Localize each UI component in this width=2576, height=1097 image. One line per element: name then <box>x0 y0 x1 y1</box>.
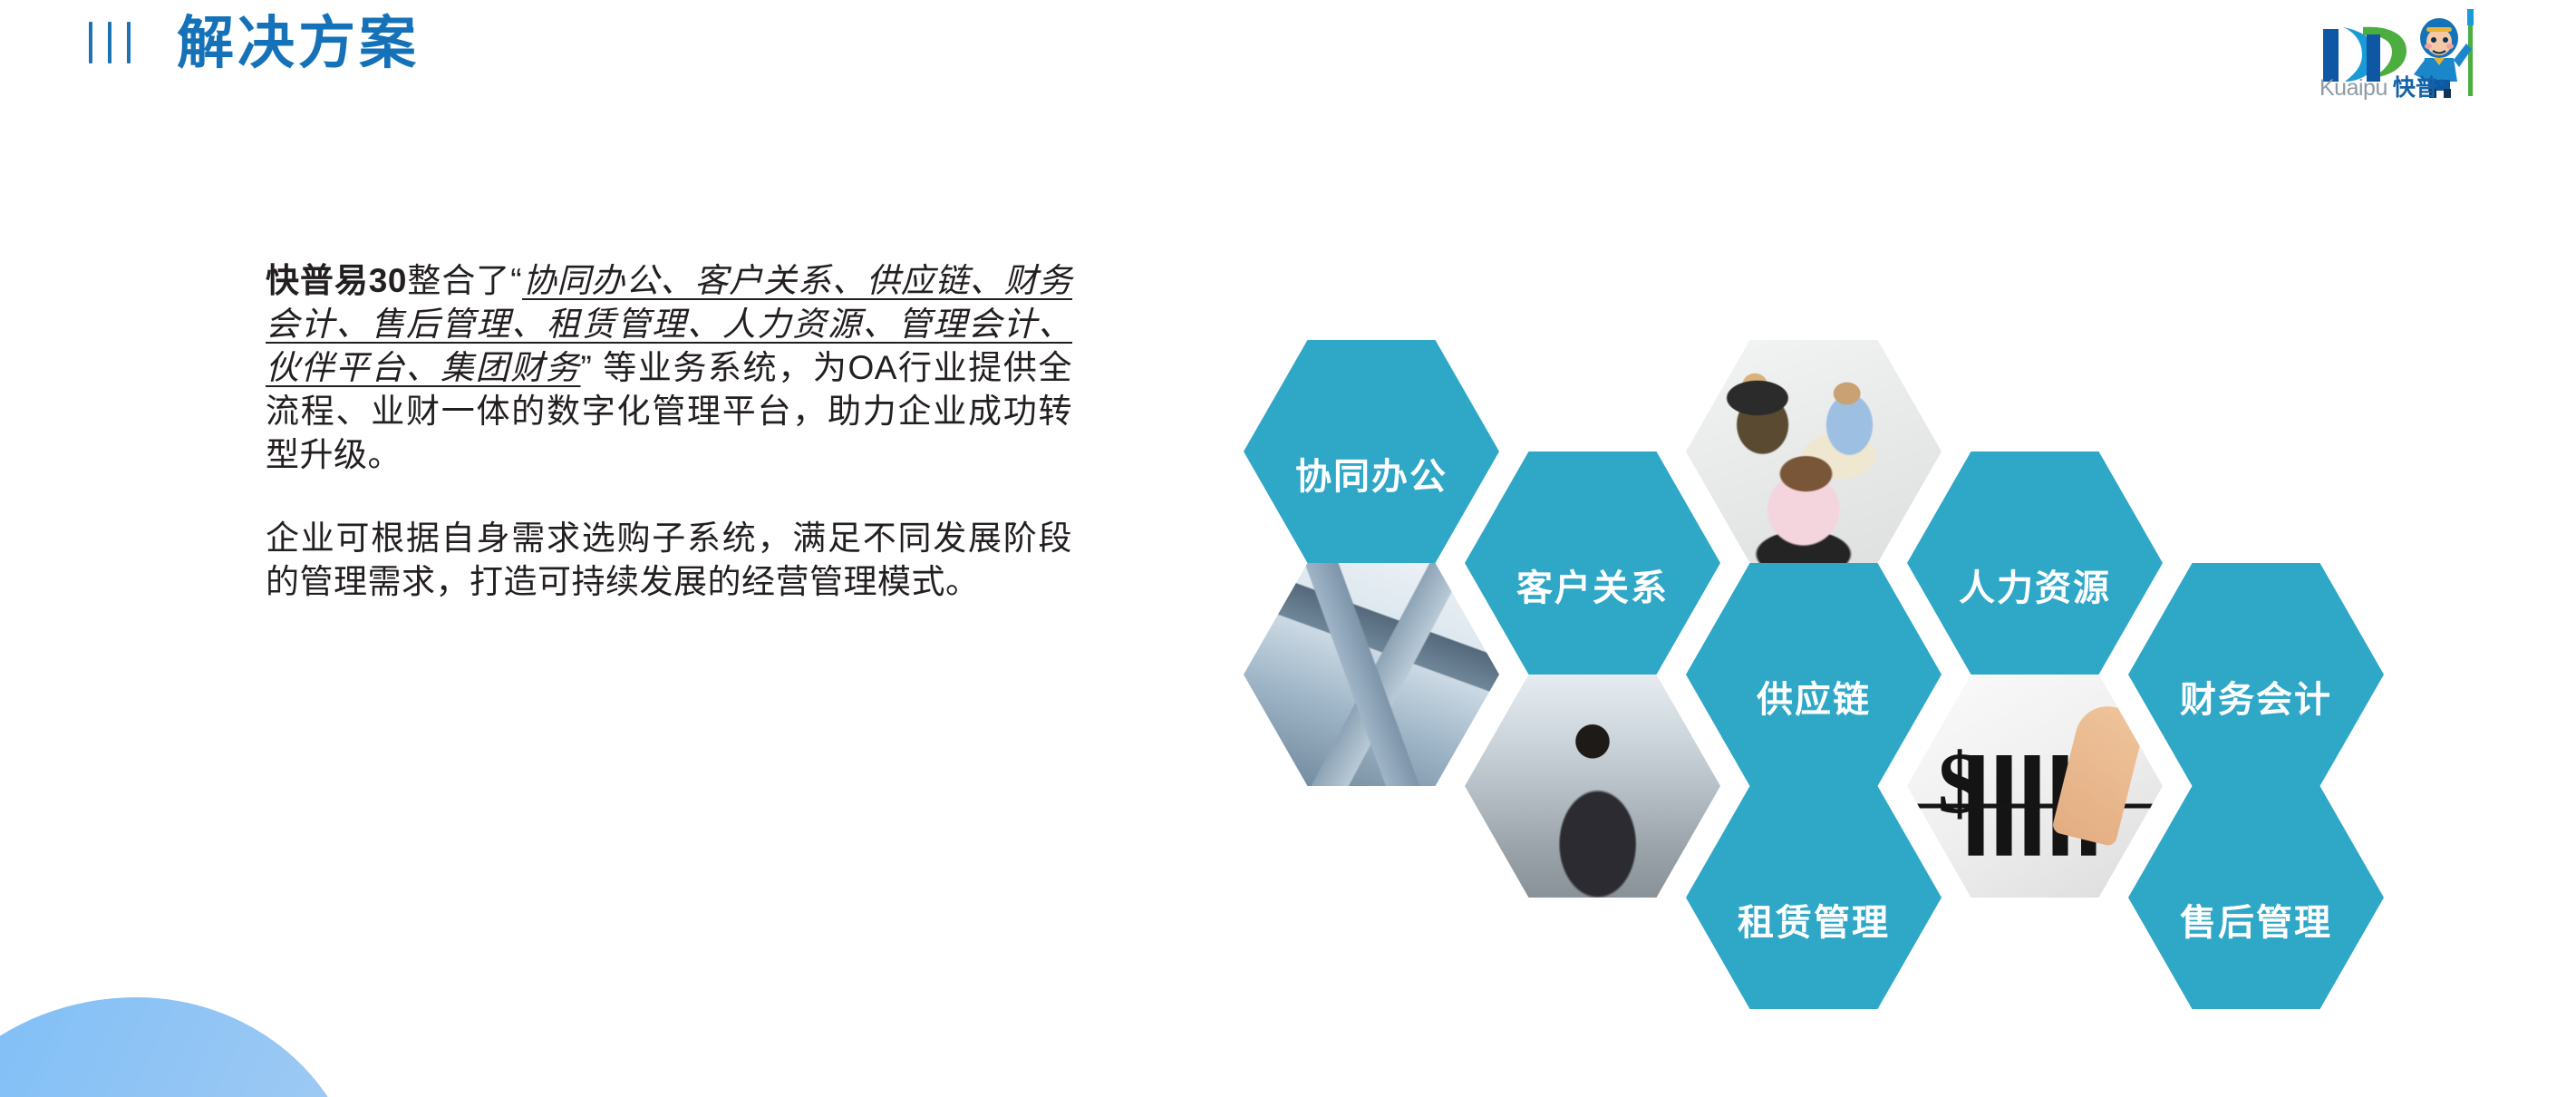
slide-canvas: 解决方案 <box>0 0 2576 1097</box>
hex-cell-growth-chart-photo <box>1907 675 2163 898</box>
hex-label: 协同办公 <box>1295 459 1448 495</box>
hex-label: 售后管理 <box>2180 905 2332 941</box>
hex-cell-meeting-photo <box>1686 340 1942 563</box>
logo-wordmark: Kuaipu快普® <box>2319 77 2445 100</box>
hex-cell-skyscrapers-photo <box>1244 563 1499 786</box>
logo-text-en: Kuaipu <box>2319 75 2387 101</box>
hex-label: 租赁管理 <box>1738 905 1890 941</box>
quote-open: “ <box>510 262 522 299</box>
logo-text-cn: 快普 <box>2393 75 2438 101</box>
product-name: 快普易30 <box>266 262 407 299</box>
hex-cell-财务会计[interactable]: 财务会计 <box>2128 563 2384 786</box>
growth-chart-photo <box>1907 675 2163 898</box>
hex-cell-供应链[interactable]: 供应链 <box>1686 563 1942 786</box>
hex-cell-协同办公[interactable]: 协同办公 <box>1244 340 1499 563</box>
hex-label: 财务会计 <box>2180 682 2332 718</box>
hex-cell-售后管理[interactable]: 售后管理 <box>2128 786 2384 1009</box>
page-title: 解决方案 <box>177 11 420 76</box>
body-copy: 快普易30整合了“协同办公、客户关系、供应链、财务会计、售后管理、租赁管理、人力… <box>266 259 1072 604</box>
hex-cell-businessman-city-photo <box>1465 675 1720 898</box>
honeycomb-diagram: 协同办公客户关系供应链租赁管理人力资源财务会计售后管理 <box>1224 299 2511 1097</box>
blue-gradient-blob <box>0 997 363 1097</box>
hex-label: 客户关系 <box>1516 570 1669 607</box>
paragraph-2: 企业可根据自身需求选购子系统，满足不同发展阶段的管理需求，打造可持续发展的经营管… <box>266 517 1072 604</box>
skyscrapers-photo <box>1244 563 1499 786</box>
paragraph-1: 快普易30整合了“协同办公、客户关系、供应链、财务会计、售后管理、租赁管理、人力… <box>266 259 1072 477</box>
three-vertical-bars-icon <box>89 22 131 63</box>
p1-lead: 整合了 <box>407 262 510 299</box>
meeting-photo <box>1686 340 1942 563</box>
businessman-city-photo <box>1465 675 1720 898</box>
paragraph-gap <box>266 477 1072 517</box>
kuaipu-logo: Kuaipu快普® <box>2312 7 2561 102</box>
trademark-symbol: ® <box>2438 79 2445 90</box>
hex-cell-租赁管理[interactable]: 租赁管理 <box>1686 786 1942 1009</box>
quote-close: ” <box>581 349 593 386</box>
hex-label: 人力资源 <box>1959 570 2111 607</box>
hex-label: 供应链 <box>1757 682 1871 718</box>
hex-cell-人力资源[interactable]: 人力资源 <box>1907 451 2163 675</box>
hex-cell-客户关系[interactable]: 客户关系 <box>1465 451 1720 675</box>
